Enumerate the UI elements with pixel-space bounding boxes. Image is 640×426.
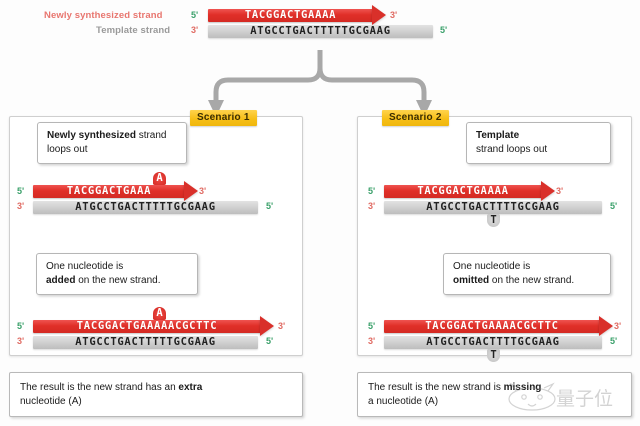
new-strand-bar: TACGGACTGAAA bbox=[33, 185, 185, 198]
s2-step2-template-3-prime: 3' bbox=[368, 336, 375, 346]
top-template-5-prime: 5' bbox=[440, 25, 447, 35]
s1-step2-duplex: A TACGGACTGAAAAACGCTTC ATGCCTGACTTTTTGCG… bbox=[33, 319, 261, 349]
s1-step1-new-strand: TACGGACTGAAA bbox=[33, 184, 258, 198]
s2-step2-duplex: TACGGACTGAAAACGCTTC ATGCCTGACTTTTGCGAAG … bbox=[384, 319, 602, 349]
template-strand-bar: ATGCCTGACTTTTTGCGAAG bbox=[208, 25, 433, 38]
template-strand-sequence: ATGCCTGACTTTTTGCGAAG bbox=[75, 201, 215, 214]
s2-step1-new-5-prime: 5' bbox=[368, 186, 375, 196]
scenario-2-callout-omitted: One nucleotide is omitted on the new str… bbox=[443, 253, 611, 295]
callout-bold-text: added bbox=[46, 275, 75, 286]
s2-step2-template-5-prime: 5' bbox=[610, 336, 617, 346]
template-strand-bar: ATGCCTGACTTTTTGCGAAG bbox=[33, 201, 258, 214]
s2-step2-new-3-prime: 3' bbox=[614, 321, 621, 331]
new-strand-sequence: TACGGACTGAAAAACGCTTC bbox=[77, 320, 217, 333]
top-duplex: TACGGACTGAAAA ATGCCTGACTTTTTGCGAAG bbox=[208, 8, 433, 38]
result-rest-text: nucleotide (A) bbox=[20, 396, 82, 407]
s1-step2-new-3-prime: 3' bbox=[278, 321, 285, 331]
callout-bold-text: Newly synthesized bbox=[47, 130, 136, 141]
scenario-2-callout-loops-out: Template strand loops out bbox=[466, 122, 611, 164]
callout-bold-text: Template bbox=[476, 130, 519, 141]
figure-canvas: Newly synthesized strand Template strand… bbox=[0, 0, 640, 426]
new-strand-sequence: TACGGACTGAAAA bbox=[417, 185, 508, 198]
s2-step2-template-strand: ATGCCTGACTTTTGCGAAG bbox=[384, 335, 602, 349]
new-strand-label: Newly synthesized strand bbox=[44, 10, 163, 21]
s2-step1-template-3-prime: 3' bbox=[368, 201, 375, 211]
template-strand-bar: ATGCCTGACTTTTGCGAAG bbox=[384, 201, 602, 214]
top-new-strand: TACGGACTGAAAA bbox=[208, 8, 433, 22]
template-strand-sequence: ATGCCTGACTTTTTGCGAAG bbox=[75, 336, 215, 349]
callout-bold-text: omitted bbox=[453, 275, 489, 286]
s1-step2-new-5-prime: 5' bbox=[17, 321, 24, 331]
new-strand-bar: TACGGACTGAAAA bbox=[208, 9, 373, 22]
scenario-1-callout-added: One nucleotide is added on the new stran… bbox=[36, 253, 198, 295]
new-strand-bar: TACGGACTGAAAACGCTTC bbox=[384, 320, 600, 333]
template-strand-bar: ATGCCTGACTTTTGCGAAG bbox=[384, 336, 602, 349]
scenario-1-result-box: The result is the new strand has an extr… bbox=[9, 372, 303, 417]
new-strand-sequence: TACGGACTGAAAA bbox=[245, 9, 336, 22]
s2-step1-bulge-base: T bbox=[487, 214, 500, 227]
top-template-3-prime: 3' bbox=[191, 25, 198, 35]
s2-step2-bulge-base: T bbox=[487, 349, 500, 362]
new-strand-bar: TACGGACTGAAAAACGCTTC bbox=[33, 320, 261, 333]
s2-step1-new-strand: TACGGACTGAAAA bbox=[384, 184, 602, 198]
s2-step1-template-5-prime: 5' bbox=[610, 201, 617, 211]
s2-step2-new-5-prime: 5' bbox=[368, 321, 375, 331]
template-strand-sequence: ATGCCTGACTTTTTGCGAAG bbox=[250, 25, 390, 38]
result-lead-text: The result is the new strand has an bbox=[20, 382, 176, 393]
template-strand-sequence: ATGCCTGACTTTTGCGAAG bbox=[426, 201, 559, 214]
s1-step2-template-5-prime: 5' bbox=[266, 336, 273, 346]
s1-step2-template-strand: ATGCCTGACTTTTTGCGAAG bbox=[33, 335, 261, 349]
result-bold-text: extra bbox=[178, 382, 202, 393]
callout-lead-text: One nucleotide is bbox=[453, 261, 530, 272]
scenario-1-badge: Scenario 1 bbox=[190, 110, 257, 126]
s1-step1-template-5-prime: 5' bbox=[266, 201, 273, 211]
s2-step2-new-strand: TACGGACTGAAAACGCTTC bbox=[384, 319, 602, 333]
callout-lead-text: One nucleotide is bbox=[46, 261, 123, 272]
template-strand-label: Template strand bbox=[96, 25, 170, 36]
s1-step1-new-5-prime: 5' bbox=[17, 186, 24, 196]
s1-step1-duplex: A TACGGACTGAAA ATGCCTGACTTTTTGCGAAG bbox=[33, 184, 258, 214]
new-strand-sequence: TACGGACTGAAA bbox=[67, 185, 151, 198]
new-strand-bar: TACGGACTGAAAA bbox=[384, 185, 542, 198]
s1-step1-template-strand: ATGCCTGACTTTTTGCGAAG bbox=[33, 200, 258, 214]
top-new-5-prime: 5' bbox=[191, 10, 198, 20]
s1-step1-template-3-prime: 3' bbox=[17, 201, 24, 211]
new-strand-sequence: TACGGACTGAAAACGCTTC bbox=[425, 320, 558, 333]
callout-rest-text: strand loops out bbox=[476, 144, 547, 155]
scenario-2-badge: Scenario 2 bbox=[382, 110, 449, 126]
template-strand-bar: ATGCCTGACTTTTTGCGAAG bbox=[33, 336, 258, 349]
top-template-strand: ATGCCTGACTTTTTGCGAAG bbox=[208, 24, 433, 38]
result-lead-text: The result is the new strand is bbox=[368, 382, 501, 393]
callout-rest-text: on the new strand. bbox=[78, 275, 160, 286]
s1-step2-template-3-prime: 3' bbox=[17, 336, 24, 346]
s2-step1-template-strand: ATGCCTGACTTTTGCGAAG bbox=[384, 200, 602, 214]
result-rest-text: a nucleotide (A) bbox=[368, 396, 438, 407]
s1-step2-new-strand: TACGGACTGAAAAACGCTTC bbox=[33, 319, 261, 333]
template-strand-sequence: ATGCCTGACTTTTGCGAAG bbox=[426, 336, 559, 349]
scenario-1-callout-loops-out: Newly synthesized strand loops out bbox=[37, 122, 187, 164]
s2-step1-duplex: TACGGACTGAAAA ATGCCTGACTTTTGCGAAG T bbox=[384, 184, 602, 214]
watermark-text: 量子位 bbox=[556, 384, 613, 411]
callout-rest-text: on the new strand. bbox=[492, 275, 574, 286]
